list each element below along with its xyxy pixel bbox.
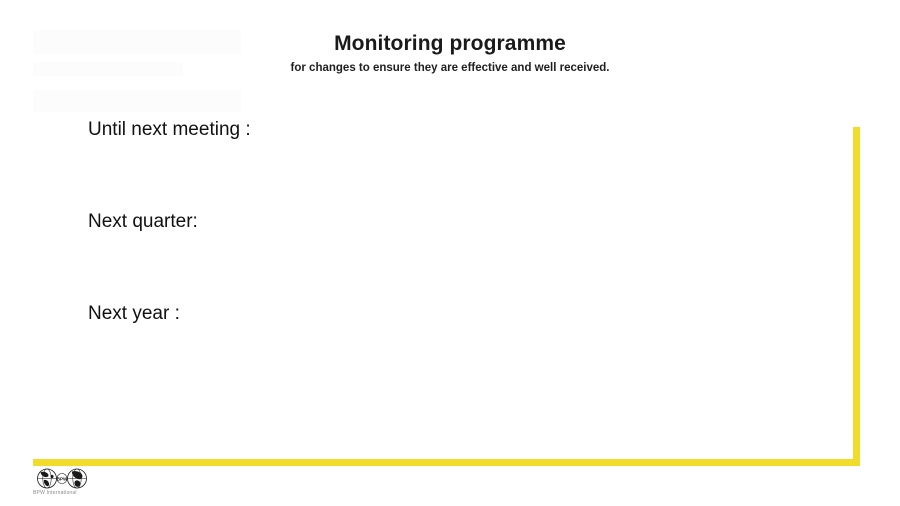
logo-caption: BPW International xyxy=(33,490,77,496)
slide-subtitle: for changes to ensure they are effective… xyxy=(0,61,900,75)
svg-text:BPW: BPW xyxy=(57,476,68,481)
body-line-next-year: Next year : xyxy=(88,302,180,326)
body-line-next-quarter: Next quarter: xyxy=(88,210,198,234)
body-line-until-next-meeting: Until next meeting : xyxy=(88,118,251,142)
globe-pair-icon: BPW xyxy=(33,468,91,489)
watermark-ghost-block xyxy=(33,90,241,112)
slide-canvas: Monitoring programme for changes to ensu… xyxy=(0,0,900,506)
slide-title: Monitoring programme xyxy=(0,31,900,57)
accent-bar-vertical xyxy=(853,127,860,466)
accent-bar-horizontal xyxy=(33,459,860,466)
footer-logo: BPW BPW International xyxy=(33,468,95,500)
